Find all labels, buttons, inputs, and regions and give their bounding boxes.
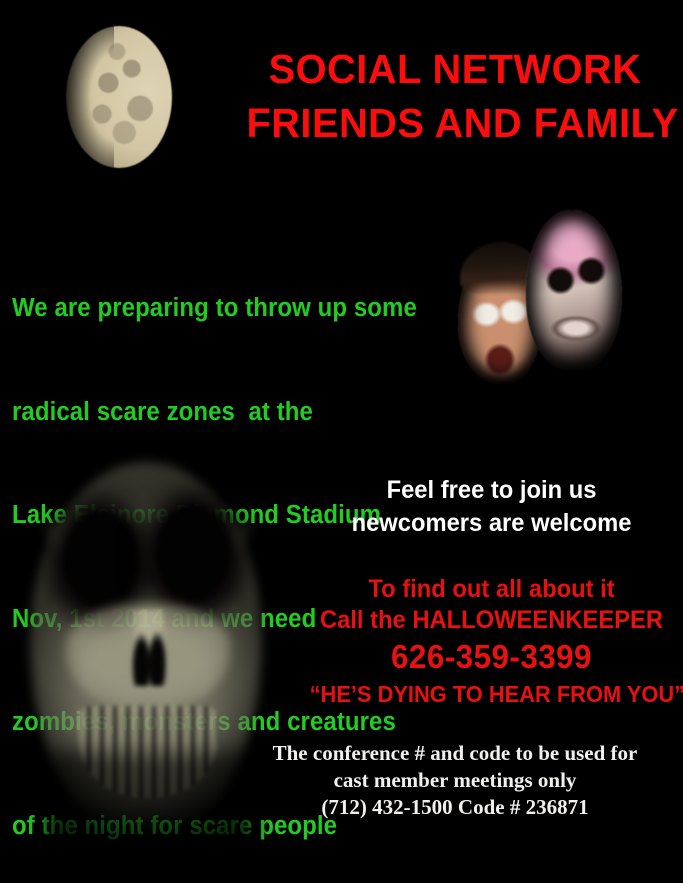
- conference-line-3[interactable]: (712) 432-1500 Code # 236871: [255, 794, 655, 821]
- ghost-nose: [132, 610, 166, 686]
- invitation-text: Feel free to join us newcomers are welco…: [310, 474, 674, 540]
- ghost-eye-right: [154, 504, 232, 608]
- contact-line-1: To find out all about it: [310, 574, 674, 605]
- ghost-jaw-shadow: [44, 752, 254, 872]
- announcement-line-1: We are preparing to throw up some: [12, 291, 416, 326]
- halloween-event-flyer: SOCIAL NETWORK FRIENDS AND FAMILY We are…: [0, 0, 683, 883]
- conference-line-2: cast member meetings only: [255, 767, 655, 794]
- title-line-2: FRIENDS AND FAMILY: [246, 96, 663, 150]
- skull-mask-image: [526, 210, 622, 370]
- moon-image: [66, 26, 172, 168]
- ghost-eye-left: [62, 510, 140, 614]
- conference-line-1: The conference # and code to be used for: [255, 740, 655, 767]
- announcement-line-2: radical scare zones at the: [12, 395, 416, 430]
- contact-tagline: “HE’S DYING TO HEAR FROM YOU”: [310, 678, 674, 710]
- contact-line-2: Call the HALLOWEENKEEPER: [310, 605, 674, 636]
- title-line-1: SOCIAL NETWORK: [246, 42, 663, 96]
- invitation-line-2: newcomers are welcome: [310, 507, 674, 540]
- conference-info: The conference # and code to be used for…: [255, 740, 655, 821]
- moon-disc: [66, 26, 172, 168]
- contact-phone-number[interactable]: 626-359-3399: [310, 636, 674, 678]
- costume-photos: [448, 198, 628, 410]
- contact-text: To find out all about it Call the HALLOW…: [310, 574, 674, 710]
- invitation-line-1: Feel free to join us: [310, 474, 674, 507]
- flyer-title: SOCIAL NETWORK FRIENDS AND FAMILY: [246, 42, 663, 150]
